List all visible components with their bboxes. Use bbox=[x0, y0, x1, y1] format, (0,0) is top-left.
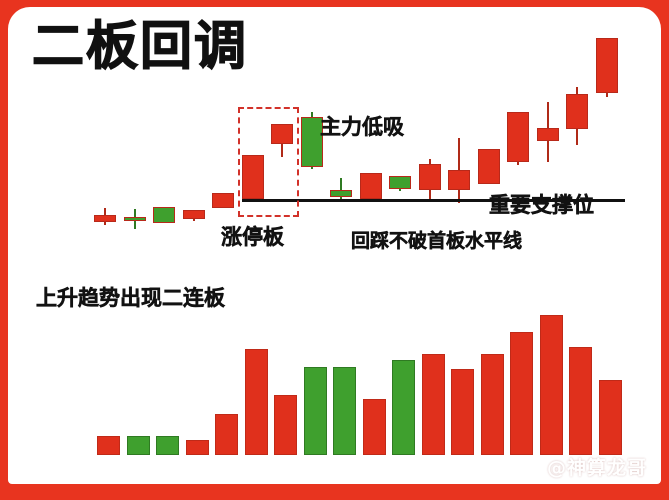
watermark-handle: @神算龙哥 bbox=[547, 453, 647, 480]
candle-body bbox=[183, 210, 205, 219]
candle-body bbox=[94, 215, 116, 222]
candlestick bbox=[389, 176, 411, 191]
volume-bar bbox=[599, 380, 622, 455]
volume-bar bbox=[215, 414, 238, 455]
volume-bar bbox=[333, 367, 356, 455]
candlestick bbox=[360, 173, 382, 199]
candlestick bbox=[124, 209, 146, 229]
annotation-huicai-bupo: 回踩不破首板水平线 bbox=[351, 226, 522, 253]
poster-frame: 二板回调 主力低吸 涨停板 重要支撑位 回踩不破首板水平线 上升趋势出现二连板 … bbox=[0, 0, 669, 500]
candlestick bbox=[183, 210, 205, 221]
candle-body bbox=[537, 128, 559, 141]
candlestick bbox=[212, 193, 234, 208]
volume-bar bbox=[97, 436, 120, 455]
candle-body bbox=[419, 164, 441, 190]
candlestick bbox=[419, 159, 441, 200]
volume-bar bbox=[274, 395, 297, 455]
annotation-uptrend: 上升趋势出现二连板 bbox=[36, 282, 225, 312]
candle-body bbox=[478, 149, 500, 184]
volume-bar bbox=[186, 440, 209, 455]
candle-body bbox=[153, 207, 175, 223]
volume-bar bbox=[245, 349, 268, 455]
poster-card: 二板回调 主力低吸 涨停板 重要支撑位 回踩不破首板水平线 上升趋势出现二连板 … bbox=[8, 7, 661, 484]
candle-body bbox=[360, 173, 382, 199]
candle-body bbox=[566, 94, 588, 129]
volume-bar-chart bbox=[8, 307, 661, 455]
candlestick bbox=[566, 87, 588, 145]
weibo-eye-icon bbox=[517, 457, 543, 477]
candle-body bbox=[330, 190, 352, 197]
annotation-zhangtingban: 涨停板 bbox=[221, 221, 284, 251]
watermark: @神算龙哥 bbox=[517, 453, 647, 480]
volume-bar bbox=[304, 367, 327, 455]
candle-body bbox=[448, 170, 470, 190]
candlestick bbox=[478, 149, 500, 184]
candlestick bbox=[537, 102, 559, 162]
candle-body bbox=[389, 176, 411, 189]
candle-body bbox=[507, 112, 529, 162]
volume-bar bbox=[569, 347, 592, 455]
highlight-box-zhangtingban bbox=[238, 107, 299, 217]
annotation-support-level: 重要支撑位 bbox=[489, 189, 594, 219]
volume-bar bbox=[156, 436, 179, 455]
volume-bar bbox=[510, 332, 533, 455]
volume-bar bbox=[422, 354, 445, 455]
candlestick bbox=[153, 207, 175, 223]
volume-bar bbox=[451, 369, 474, 455]
annotation-zhuli-dixi: 主力低吸 bbox=[320, 111, 404, 141]
candlestick bbox=[507, 112, 529, 165]
candle-body bbox=[212, 193, 234, 208]
candle-body bbox=[124, 217, 146, 221]
volume-bar bbox=[127, 436, 150, 455]
candlestick bbox=[596, 38, 618, 97]
candlestick bbox=[94, 208, 116, 225]
candle-body bbox=[596, 38, 618, 93]
volume-bar bbox=[481, 354, 504, 455]
volume-bar bbox=[540, 315, 563, 455]
volume-bar bbox=[363, 399, 386, 455]
volume-bar bbox=[392, 360, 415, 455]
candlestick bbox=[448, 138, 470, 203]
